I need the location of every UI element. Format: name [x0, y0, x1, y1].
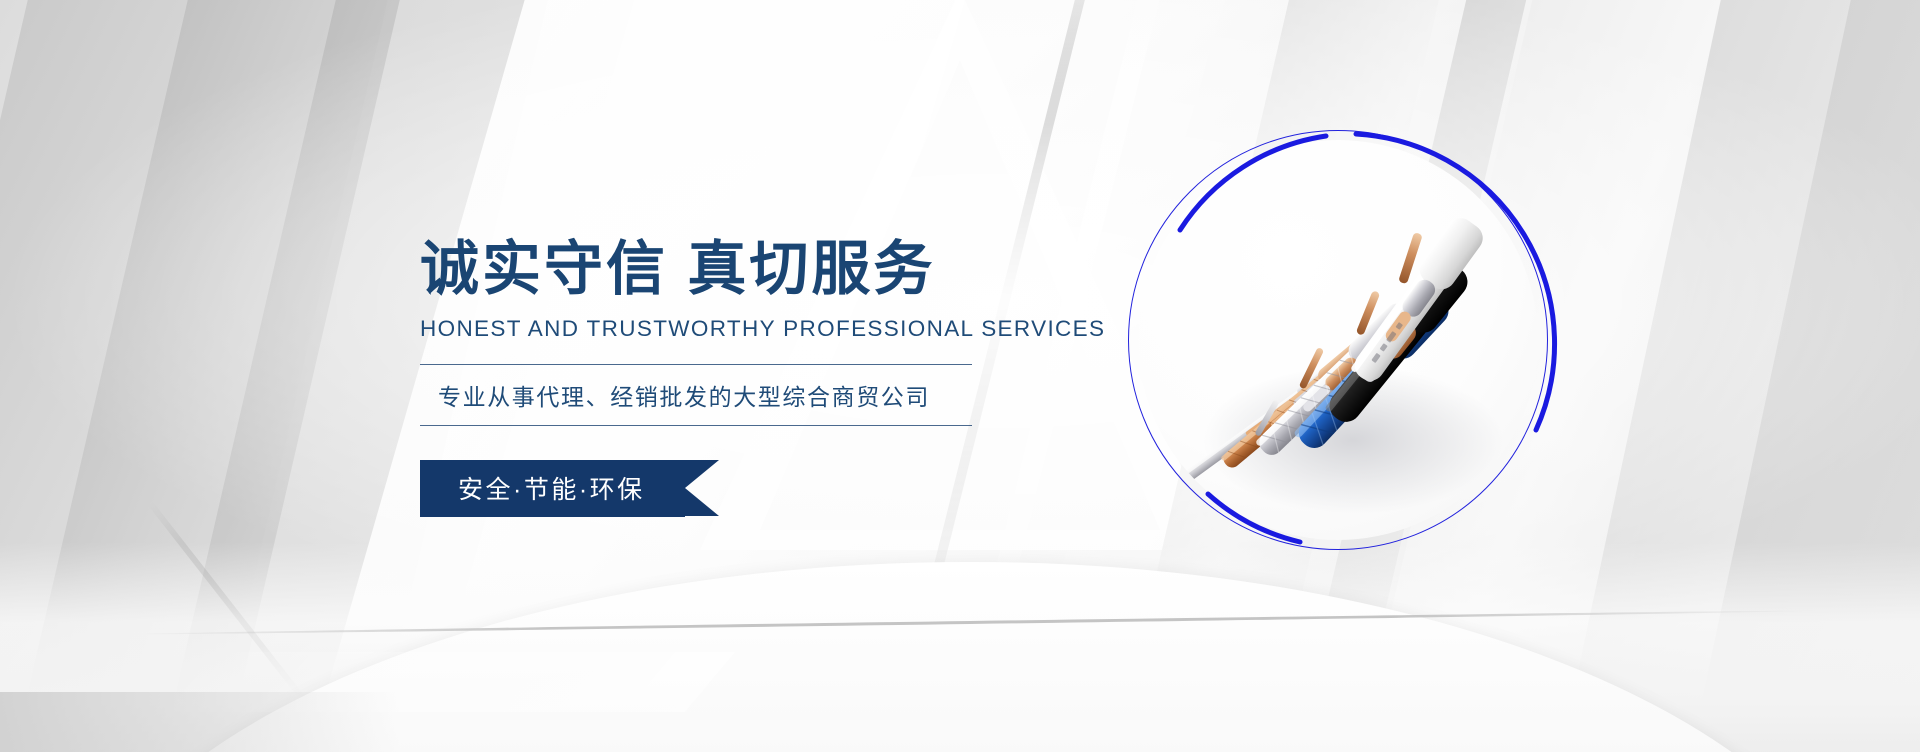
circle-accent-arcs: [1088, 90, 1588, 590]
product-photo-circle: [1128, 130, 1548, 550]
arrow-right-icon: [685, 460, 719, 516]
banner-headline: 诚实守信 真切服务: [420, 238, 1060, 302]
banner-text-block: 诚实守信 真切服务 HONEST AND TRUSTWORTHY PROFESS…: [420, 238, 1060, 517]
bg-bottom-shadow: [0, 692, 400, 752]
feature-badge-label: 安全·节能·环保: [420, 460, 685, 517]
promotional-banner: 诚实守信 真切服务 HONEST AND TRUSTWORTHY PROFESS…: [0, 0, 1920, 752]
divider-bottom: [420, 425, 972, 426]
arc-accent-bottom-left-icon: [1208, 494, 1300, 542]
banner-subtitle-cn-group: 专业从事代理、经销批发的大型综合商贸公司: [420, 364, 972, 426]
arc-accent-right-icon: [1356, 134, 1555, 430]
divider-top: [420, 364, 972, 365]
feature-badge[interactable]: 安全·节能·环保: [420, 460, 685, 517]
arc-accent-top-left-icon: [1180, 136, 1326, 230]
banner-subtitle-english: HONEST AND TRUSTWORTHY PROFESSIONAL SERV…: [420, 316, 1060, 342]
banner-subtitle-chinese: 专业从事代理、经销批发的大型综合商贸公司: [420, 365, 972, 425]
